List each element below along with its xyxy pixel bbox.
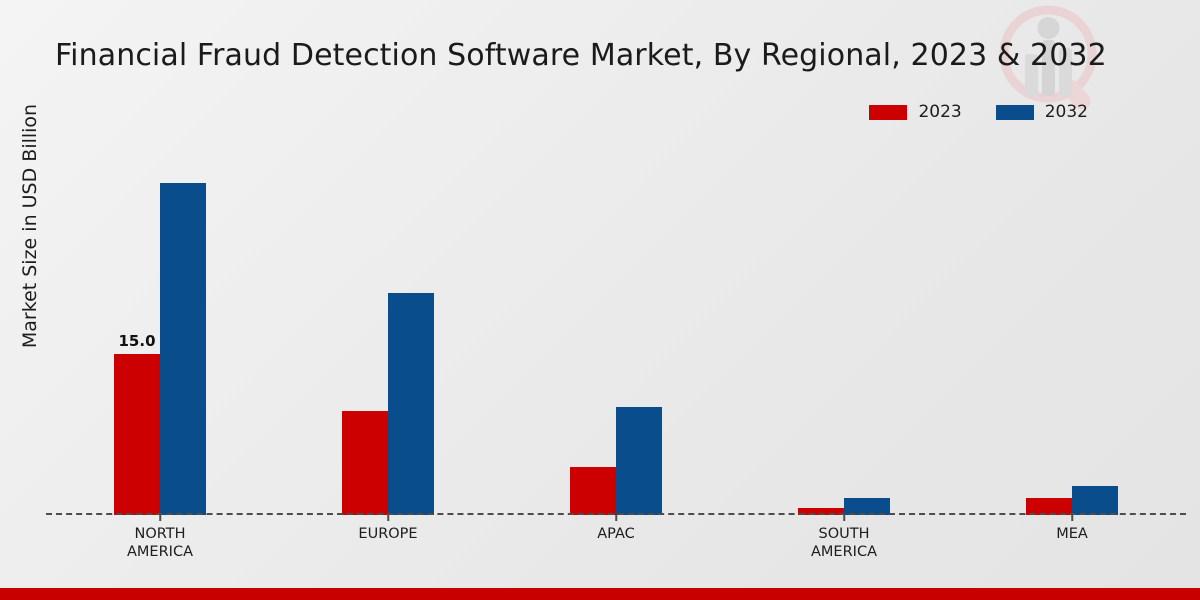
bar-group-apac: APAC bbox=[502, 150, 730, 515]
x-axis-label-line: SOUTH bbox=[811, 525, 877, 543]
x-axis-label-europe: EUROPE bbox=[358, 525, 417, 543]
x-axis-tick bbox=[615, 514, 617, 521]
bar-wrap bbox=[1072, 150, 1118, 515]
bar-wrap bbox=[844, 150, 890, 515]
bar-north-america-2032[interactable] bbox=[160, 183, 206, 515]
page-title: Financial Fraud Detection Software Marke… bbox=[55, 38, 1107, 73]
plot-area: 15.0NORTHAMERICAEUROPEAPACSOUTHAMERICAME… bbox=[46, 150, 1186, 515]
y-axis-title: Market Size in USD Billion bbox=[19, 56, 41, 396]
bars-container bbox=[798, 150, 890, 515]
x-axis-label-line: EUROPE bbox=[358, 525, 417, 543]
bar-north-america-2023[interactable] bbox=[114, 354, 160, 515]
bar-wrap bbox=[798, 150, 844, 515]
x-axis-label-south-america: SOUTHAMERICA bbox=[811, 525, 877, 561]
bar-group-south-america: SOUTHAMERICA bbox=[730, 150, 958, 515]
bar-group-mea: MEA bbox=[958, 150, 1186, 515]
x-axis-tick bbox=[387, 514, 389, 521]
x-axis-label-mea: MEA bbox=[1056, 525, 1088, 543]
bar-group-north-america: 15.0NORTHAMERICA bbox=[46, 150, 274, 515]
bar-wrap bbox=[388, 150, 434, 515]
legend-item-2032[interactable]: 2032 bbox=[996, 104, 1088, 121]
x-axis-tick bbox=[843, 514, 845, 521]
bar-apac-2032[interactable] bbox=[616, 407, 662, 515]
bar-wrap bbox=[160, 150, 206, 515]
bar-groups: 15.0NORTHAMERICAEUROPEAPACSOUTHAMERICAME… bbox=[46, 150, 1186, 515]
bar-wrap bbox=[570, 150, 616, 515]
bar-wrap bbox=[616, 150, 662, 515]
bar-europe-2032[interactable] bbox=[388, 293, 434, 515]
x-axis-label-apac: APAC bbox=[597, 525, 635, 543]
x-axis-label-north-america: NORTHAMERICA bbox=[127, 525, 193, 561]
bar-value-label-north-america-2023: 15.0 bbox=[118, 332, 155, 350]
bars-container bbox=[1026, 150, 1118, 515]
x-axis-baseline bbox=[46, 513, 1186, 515]
bar-wrap: 15.0 bbox=[114, 150, 160, 515]
bar-apac-2023[interactable] bbox=[570, 467, 616, 515]
bar-europe-2023[interactable] bbox=[342, 411, 388, 515]
footer-accent-bar bbox=[0, 588, 1200, 600]
legend-item-2023[interactable]: 2023 bbox=[869, 104, 961, 121]
bar-mea-2032[interactable] bbox=[1072, 486, 1118, 515]
x-axis-label-line: APAC bbox=[597, 525, 635, 543]
x-axis-label-line: AMERICA bbox=[127, 543, 193, 561]
bars-container: 15.0 bbox=[114, 150, 206, 515]
x-axis-tick bbox=[159, 514, 161, 521]
x-axis-label-line: AMERICA bbox=[811, 543, 877, 561]
chart-legend: 2023 2032 bbox=[869, 104, 1088, 121]
x-axis-label-line: MEA bbox=[1056, 525, 1088, 543]
legend-swatch-2023 bbox=[869, 105, 907, 120]
bar-wrap bbox=[1026, 150, 1072, 515]
legend-label-2023: 2023 bbox=[918, 104, 961, 121]
bar-wrap bbox=[342, 150, 388, 515]
bars-container bbox=[570, 150, 662, 515]
bars-container bbox=[342, 150, 434, 515]
bar-group-europe: EUROPE bbox=[274, 150, 502, 515]
x-axis-label-line: NORTH bbox=[127, 525, 193, 543]
legend-label-2032: 2032 bbox=[1045, 104, 1088, 121]
chart-poster: Financial Fraud Detection Software Marke… bbox=[0, 0, 1200, 600]
x-axis-tick bbox=[1071, 514, 1073, 521]
legend-swatch-2032 bbox=[996, 105, 1034, 120]
